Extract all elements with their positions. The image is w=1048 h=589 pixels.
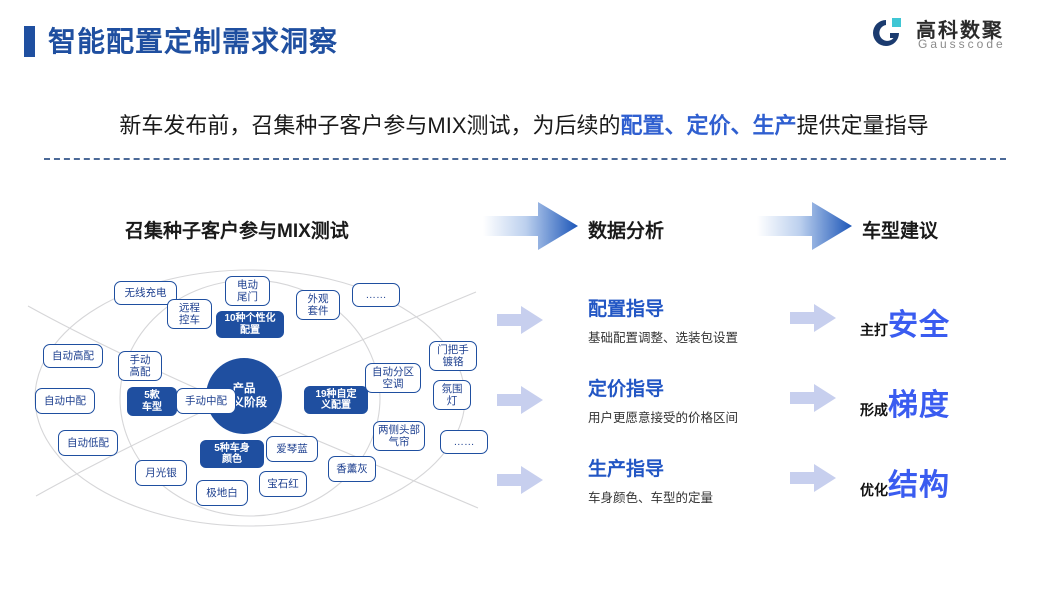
row-arrow-icon-right-1 xyxy=(790,303,836,333)
diagram-node-aroma-gray: 香薰灰 xyxy=(328,456,376,482)
diagram-node-aegean-blue: 爱琴蓝 xyxy=(266,436,318,462)
diagram-node-auto-high-trim: 自动高配 xyxy=(43,344,103,368)
diagram-node-manual-mid-trim: 手动中配 xyxy=(176,388,236,414)
subtitle-line: 新车发布前，召集种子客户参与MIX测试，为后续的配置、定价、生产提供定量指导 xyxy=(0,108,1048,140)
subtitle-part-2: 提供定量指导 xyxy=(797,113,929,138)
brand-logo: 高科数聚 Gausscode xyxy=(866,12,1026,58)
diagram-node-chrome-door-handle: 门把手 镀铬 xyxy=(429,341,477,371)
column-header-model-advice: 车型建议 xyxy=(862,216,938,243)
analysis-row-production: 生产指导 车身颜色、车型的定量 xyxy=(588,460,818,506)
analysis-title: 配置指导 xyxy=(588,300,818,321)
diagram-node-ambient-light: 氛围 灯 xyxy=(433,380,471,410)
logo-text-en: Gausscode xyxy=(918,37,1006,51)
analysis-row-configuration: 配置指导 基础配置调整、选装包设置 xyxy=(588,300,818,346)
header-arrow-icon-2 xyxy=(757,200,852,252)
diagram-category-10-personalized: 10种个性化 配置 xyxy=(216,311,284,338)
diagram-node-ellipsis-top: …… xyxy=(352,283,400,307)
suggestion-prefix: 主打 xyxy=(860,322,888,338)
section-divider xyxy=(44,158,1006,160)
diagram-category-19-custom: 19种自定 义配置 xyxy=(304,386,368,414)
diagram-node-moonlight-silver: 月光银 xyxy=(135,460,187,486)
analysis-desc: 用户更愿意接受的价格区间 xyxy=(588,407,818,426)
diagram-node-ruby-red: 宝石红 xyxy=(259,471,307,497)
row-arrow-icon-right-3 xyxy=(790,463,836,493)
analysis-desc: 基础配置调整、选装包设置 xyxy=(588,327,818,346)
diagram-node-auto-low-trim: 自动低配 xyxy=(58,430,118,456)
diagram-category-5-body-colors: 5种车身 颜色 xyxy=(200,440,264,468)
diagram-node-side-head-airbag: 两侧头部 气帘 xyxy=(373,421,425,451)
title-accent-bar xyxy=(24,26,35,57)
suggestion-structure: 优化结构 xyxy=(860,460,950,504)
column-header-data-analysis: 数据分析 xyxy=(588,216,664,243)
row-arrow-icon-right-2 xyxy=(790,383,836,413)
row-arrow-icon-left-2 xyxy=(497,385,543,415)
diagram-node-exterior-kit: 外观 套件 xyxy=(296,290,340,320)
subtitle-highlight: 配置、定价、生产 xyxy=(621,113,797,138)
analysis-desc: 车身颜色、车型的定量 xyxy=(588,487,818,506)
diagram-node-manual-high-trim: 手动 高配 xyxy=(118,351,162,381)
diagram-category-5-models: 5款 车型 xyxy=(127,387,177,416)
suggestion-prefix: 形成 xyxy=(860,402,888,418)
diagram-node-auto-zone-ac: 自动分区 空调 xyxy=(365,363,421,393)
suggestion-prefix: 优化 xyxy=(860,482,888,498)
analysis-row-pricing: 定价指导 用户更愿意接受的价格区间 xyxy=(588,380,818,426)
analysis-title: 生产指导 xyxy=(588,460,818,481)
diagram-node-polar-white: 极地白 xyxy=(196,480,248,506)
analysis-title: 定价指导 xyxy=(588,380,818,401)
header-arrow-icon-1 xyxy=(483,200,578,252)
diagram-node-remote-control: 远程 控车 xyxy=(167,299,212,329)
page-title: 智能配置定制需求洞察 xyxy=(48,20,338,60)
suggestion-safety: 主打安全 xyxy=(860,300,950,344)
slide-root: 智能配置定制需求洞察 高科数聚 Gausscode 新车发布前，召集种子客户参与… xyxy=(0,0,1048,589)
suggestion-keyword: 结构 xyxy=(888,469,950,502)
product-definition-diagram: 产品 定义阶段 10种个性化 配置 19种自定 义配置 5款 车型 5种车身 颜… xyxy=(8,258,488,534)
diagram-node-ellipsis-right: …… xyxy=(440,430,488,454)
suggestion-keyword: 安全 xyxy=(888,309,950,342)
row-arrow-icon-left-1 xyxy=(497,305,543,335)
suggestion-keyword: 梯度 xyxy=(888,389,950,422)
column-header-mix-test: 召集种子客户参与MIX测试 xyxy=(125,216,349,243)
suggestion-tier: 形成梯度 xyxy=(860,380,950,424)
gausscode-g-logo-icon xyxy=(868,16,908,50)
diagram-node-auto-mid-trim: 自动中配 xyxy=(35,388,95,414)
row-arrow-icon-left-3 xyxy=(497,465,543,495)
subtitle-part-1: 新车发布前，召集种子客户参与MIX测试，为后续的 xyxy=(119,113,620,138)
diagram-node-power-tailgate: 电动 尾门 xyxy=(225,276,270,306)
